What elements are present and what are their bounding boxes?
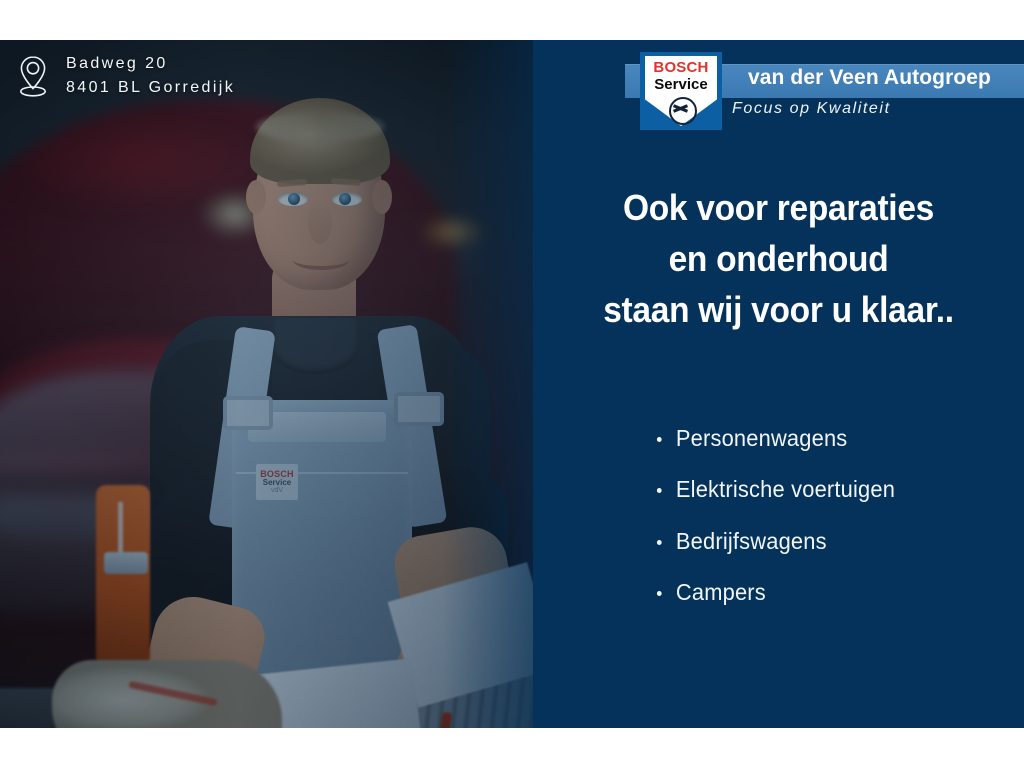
- photo-edge-fade: [443, 40, 533, 728]
- headline-line-1: Ook voor reparaties: [550, 182, 1007, 233]
- list-item: Personenwagens: [655, 426, 997, 451]
- advertisement-canvas: BOSCH Service vdV: [0, 0, 1024, 768]
- brand-tagline: Focus op Kwaliteit: [732, 100, 891, 118]
- headline: Ook voor reparaties en onderhoud staan w…: [550, 182, 1007, 335]
- headline-line-3: staan wij voor u klaar..: [550, 284, 1007, 335]
- list-item: Campers: [655, 580, 997, 605]
- bosch-service-logo: BOSCH Service: [640, 52, 722, 130]
- brand-header: BOSCH Service van der Veen Autogroep Foc…: [640, 52, 1024, 142]
- mechanic-photo: BOSCH Service vdV: [0, 40, 533, 728]
- company-name: van der Veen Autogroep: [748, 66, 991, 90]
- list-item: Bedrijfswagens: [655, 529, 997, 554]
- services-list: Personenwagens Elektrische voertuigen Be…: [655, 426, 1015, 631]
- list-item: Elektrische voertuigen: [655, 477, 997, 502]
- logo-bosch-word: BOSCH: [645, 60, 717, 75]
- location-pin-icon: [14, 53, 52, 99]
- headline-line-2: en onderhoud: [550, 233, 1007, 284]
- service-advertisement-banner: BOSCH Service vdV: [0, 40, 1024, 728]
- address-line-1: Badweg 20: [66, 52, 235, 76]
- logo-service-word: Service: [645, 77, 717, 92]
- bosch-armature-icon: [669, 97, 697, 125]
- address-line-2: 8401 BL Gorredijk: [66, 76, 235, 100]
- address-lines: Badweg 20 8401 BL Gorredijk: [66, 52, 235, 101]
- address-block: Badweg 20 8401 BL Gorredijk: [14, 52, 235, 101]
